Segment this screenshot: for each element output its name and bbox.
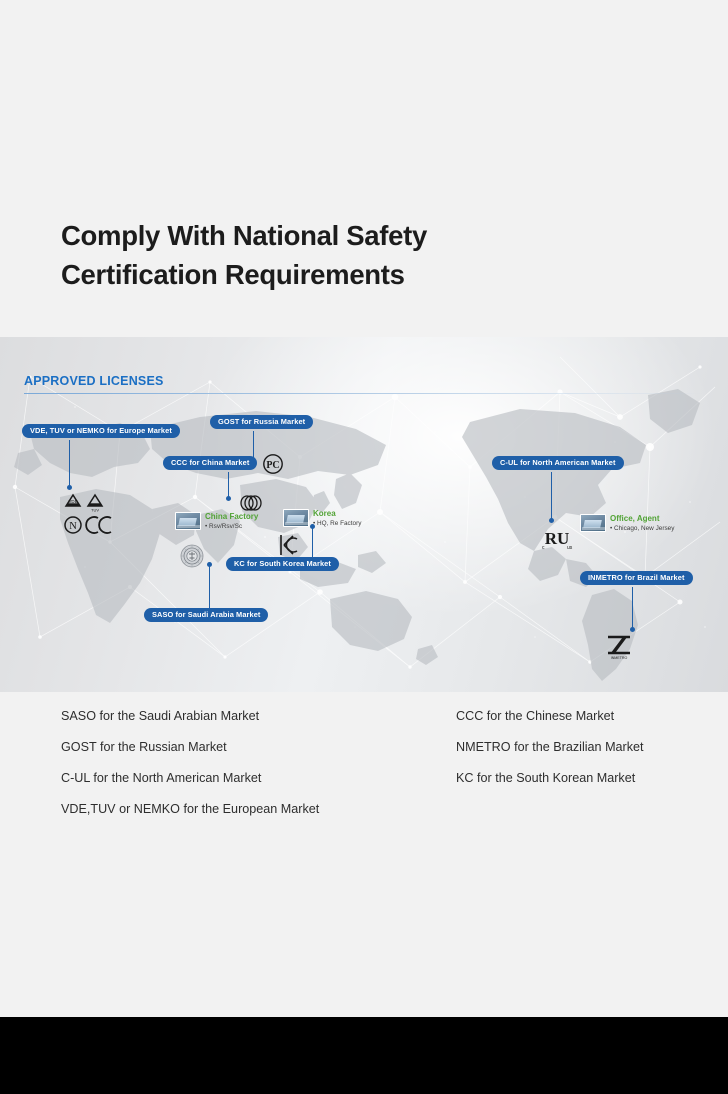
gost-pc-mark: PC — [262, 453, 284, 480]
footer-bar — [0, 1017, 728, 1094]
leader-dot-europe — [67, 485, 72, 490]
marker-label-saudi-arabia[interactable]: SASO for Saudi Arabia Market — [144, 608, 268, 622]
c-ul-us-mark: RU c us — [540, 527, 574, 556]
list-item: CCC for the Chinese Market — [456, 710, 644, 723]
site-name-us-office: Office, Agent — [610, 514, 674, 524]
leader-dot-china — [226, 496, 231, 501]
list-item: GOST for the Russian Market — [61, 741, 319, 754]
leader-line-saudi-arabia — [209, 566, 210, 612]
site-name-korea: Korea — [313, 509, 361, 519]
marker-label-brazil[interactable]: INMETRO for Brazil Market — [580, 571, 693, 585]
site-name-china: China Factory — [205, 512, 258, 522]
site-sub-china: Rsv/Rsv/Sc — [205, 523, 258, 531]
page-title-line-1: Comply With National Safety — [61, 216, 621, 255]
svg-text:INMETRO: INMETRO — [611, 656, 628, 660]
svg-text:TUV: TUV — [91, 508, 99, 513]
leader-line-north-america — [551, 472, 552, 520]
page-title-line-2: Certification Requirements — [61, 255, 621, 294]
certification-list-left-column: SASO for the Saudi Arabian Market GOST f… — [61, 710, 319, 834]
factory-photo-thumbnail-china — [175, 512, 201, 530]
list-item: NMETRO for the Brazilian Market — [456, 741, 644, 754]
leader-dot-north-america — [549, 518, 554, 523]
svg-text:VDE: VDE — [68, 499, 77, 504]
marker-label-north-america[interactable]: C-UL for North American Market — [492, 456, 624, 470]
office-photo-thumbnail-us — [580, 514, 606, 532]
saso-seal-mark — [180, 544, 204, 573]
svg-text:RU: RU — [545, 529, 570, 548]
leader-dot-saudi-arabia — [207, 562, 212, 567]
svg-text:N: N — [69, 521, 77, 532]
leader-dot-brazil — [630, 627, 635, 632]
leader-line-south-korea — [312, 528, 313, 558]
leader-line-china — [228, 472, 229, 498]
header-divider-rule — [24, 393, 704, 394]
approved-licenses-header: APPROVED LICENSES — [24, 372, 704, 394]
marker-label-china[interactable]: CCC for China Market — [163, 456, 257, 470]
certification-list-right-column: CCC for the Chinese Market NMETRO for th… — [456, 710, 644, 803]
list-item: SASO for the Saudi Arabian Market — [61, 710, 319, 723]
list-item: VDE,TUV or NEMKO for the European Market — [61, 803, 319, 816]
site-callout-china-factory: China Factory Rsv/Rsv/Sc — [175, 512, 258, 531]
site-sub-us-office: Chicago, New Jersey — [610, 525, 674, 533]
list-item: C-UL for the North American Market — [61, 772, 319, 785]
vde-tuv-nemko-ce-marks: VDE TUV N — [62, 492, 122, 545]
leader-line-europe — [69, 440, 70, 488]
approved-licenses-title: APPROVED LICENSES — [24, 374, 164, 391]
site-sub-korea: HQ, Re Factory — [313, 520, 361, 528]
marker-label-russia[interactable]: GOST for Russia Market — [210, 415, 313, 429]
inmetro-n-mark: INMETRO — [605, 634, 633, 665]
svg-text:us: us — [567, 545, 573, 551]
svg-text:PC: PC — [266, 460, 279, 471]
site-callout-us-office: Office, Agent Chicago, New Jersey — [580, 514, 674, 533]
leader-line-brazil — [632, 587, 633, 629]
factory-photo-thumbnail-korea — [283, 509, 309, 527]
kc-mark — [278, 533, 300, 562]
marker-label-europe[interactable]: VDE, TUV or NEMKO for Europe Market — [22, 424, 180, 438]
certification-list-section: SASO for the Saudi Arabian Market GOST f… — [0, 692, 728, 1017]
site-callout-korea: Korea HQ, Re Factory — [283, 509, 361, 528]
list-item: KC for the South Korean Market — [456, 772, 644, 785]
page-heading: Comply With National Safety Certificatio… — [61, 216, 621, 294]
